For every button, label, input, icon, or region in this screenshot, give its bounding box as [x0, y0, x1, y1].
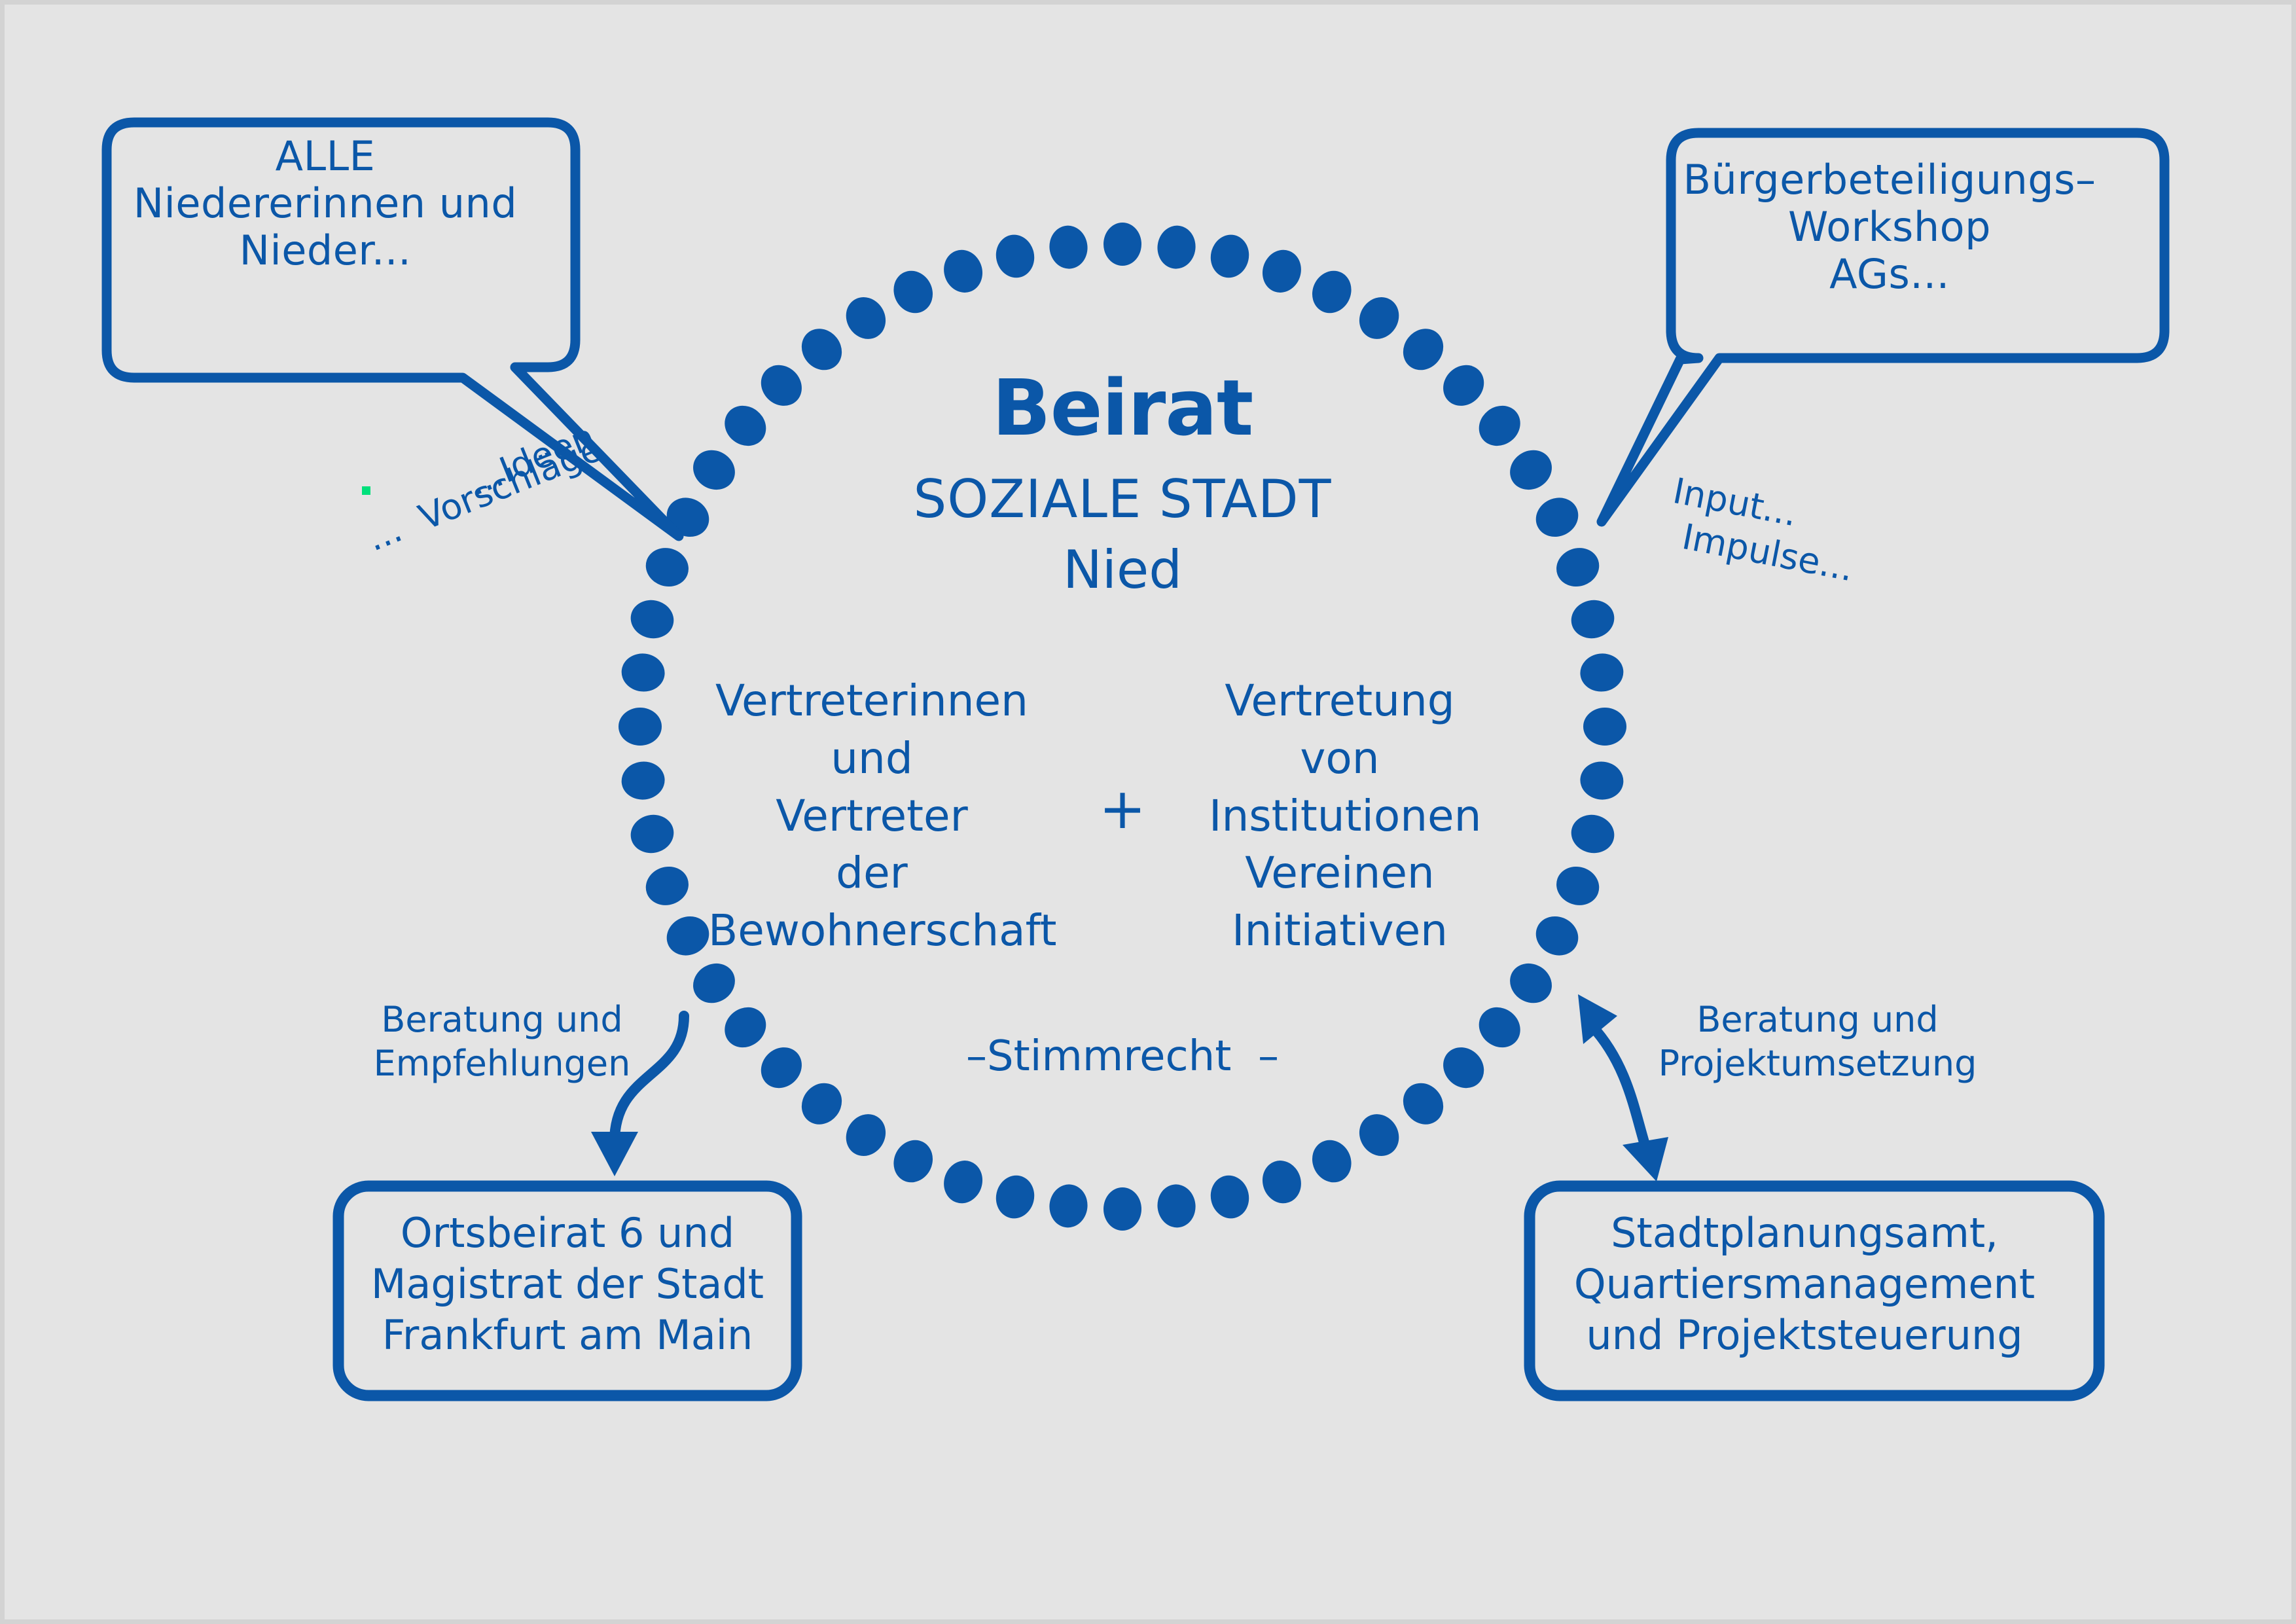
- center-column-left: Vertreterinnen und Vertreter der Bewohne…: [708, 672, 1035, 960]
- page-title: Beirat: [795, 363, 1450, 453]
- label-beratung-empfehlungen: Beratung und Empfehlungen: [319, 998, 685, 1086]
- diagram-canvas: ALLE Niedererinnen und Nieder... Bürgerb…: [0, 0, 2296, 1624]
- ring-dot: [660, 491, 716, 544]
- ring-dot: [627, 596, 677, 642]
- ring-dot: [1551, 542, 1604, 592]
- ring-dot: [887, 1134, 940, 1189]
- ring-dot: [1352, 290, 1407, 347]
- plus-operator: +: [1083, 777, 1162, 842]
- ring-dot: [1530, 909, 1585, 962]
- ring-dot: [686, 956, 743, 1011]
- stimmrecht-note: –Stimmrecht –: [926, 1032, 1319, 1081]
- center-subtitle-line-1: SOZIALE STADT: [795, 469, 1450, 530]
- ring-dot: [838, 1107, 893, 1164]
- ring-dot: [992, 231, 1038, 281]
- ring-dot: [1530, 491, 1585, 544]
- center-column-right: Vertretung von Institutionen Vereinen In…: [1209, 672, 1471, 960]
- ring-dot: [627, 810, 677, 857]
- ring-dot: [1103, 1187, 1141, 1231]
- ring-dot: [887, 264, 940, 320]
- box-ortsbeirat-text: Ortsbeirat 6 und Magistrat der Stadt Fra…: [345, 1208, 790, 1361]
- bubble-top-right-text: Bürgerbeteiligungs– Workshop AGs...: [1660, 156, 2119, 298]
- ring-dot: [1155, 224, 1198, 271]
- ring-dot: [753, 1039, 810, 1096]
- ring-dot: [1471, 397, 1528, 454]
- ring-dot: [1206, 231, 1253, 281]
- ring-dot: [1257, 245, 1307, 298]
- ring-dot: [620, 651, 667, 694]
- ring-dot: [793, 1075, 850, 1132]
- center-subtitle-line-2: Nied: [795, 540, 1450, 601]
- ring-dot: [686, 442, 743, 497]
- ring-dot: [1206, 1172, 1253, 1222]
- ring-dot: [1578, 759, 1625, 802]
- ring-dot: [1155, 1182, 1198, 1229]
- ring-dot: [938, 245, 988, 298]
- ring-dot: [641, 542, 694, 592]
- ring-dot: [1435, 1039, 1492, 1096]
- ring-dot: [1583, 708, 1626, 746]
- ring-dot: [938, 1155, 988, 1208]
- ring-dot: [660, 909, 716, 962]
- ring-dot: [1578, 651, 1625, 694]
- ring-dot: [1305, 264, 1358, 320]
- ring-dot: [717, 999, 774, 1055]
- ring-dot: [1568, 596, 1618, 642]
- ring-dot: [1047, 224, 1090, 271]
- ring-dot: [1503, 956, 1560, 1011]
- ring-dot: [1503, 442, 1560, 497]
- ring-dot: [1257, 1155, 1307, 1208]
- ring-dot: [1395, 1075, 1451, 1132]
- ring-dot: [717, 397, 774, 454]
- ring-dot: [1471, 999, 1528, 1055]
- ring-dot: [1305, 1134, 1358, 1189]
- ring-dot: [620, 759, 667, 802]
- ring-dot: [1551, 861, 1604, 911]
- ring-dot: [1352, 1107, 1407, 1164]
- bubble-top-left-text: ALLE Niedererinnen und Nieder...: [96, 133, 554, 274]
- box-stadtplanungsamt-text: Stadtplanungsamt, Quartiersmanagement un…: [1536, 1208, 2073, 1361]
- ring-dot: [838, 290, 893, 347]
- ring-dot: [1103, 223, 1141, 266]
- ring-dot: [619, 708, 662, 746]
- label-beratung-projektumsetzung: Beratung und Projektumsetzung: [1634, 998, 2001, 1086]
- ring-dot: [641, 861, 694, 911]
- ring-dot: [992, 1172, 1038, 1222]
- ring-dot: [1047, 1182, 1090, 1229]
- green-marker-dot: [362, 486, 370, 495]
- ring-dot: [1568, 810, 1618, 857]
